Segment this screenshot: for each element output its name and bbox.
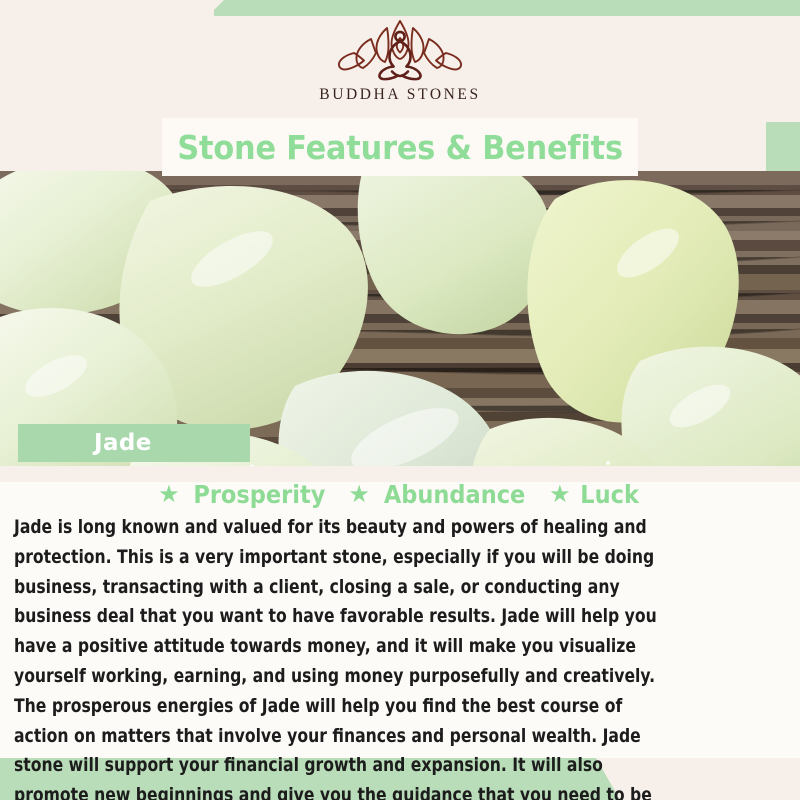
benefit-item-abundance: ★ Abundance: [348, 480, 533, 509]
star-icon: ★: [158, 483, 180, 507]
benefit-label: Abundance: [384, 480, 525, 509]
lotus-meditation-icon: [330, 16, 470, 82]
brand-name: BUDDHA STONES: [319, 86, 480, 104]
section-title-banner: Stone Features & Benefits: [162, 118, 638, 176]
stone-name-tag: Jade: [18, 424, 250, 462]
star-icon: ★: [348, 483, 370, 507]
stone-info-card: BUDDHA STONES: [0, 0, 800, 800]
benefit-label: Prosperity: [193, 480, 325, 509]
stone-description: Jade is long known and valued for its be…: [14, 513, 677, 800]
decorative-frame-top: [0, 0, 800, 16]
stone-photo-graphic: [0, 171, 800, 466]
benefit-item-luck: ★ Luck: [549, 480, 642, 509]
page-title: Stone Features & Benefits: [177, 128, 623, 167]
brand-logo: BUDDHA STONES: [0, 16, 800, 104]
stone-name: Jade: [94, 430, 152, 456]
star-icon: ★: [549, 483, 571, 507]
stone-photo: [0, 171, 800, 466]
benefit-label: Luck: [580, 480, 639, 509]
benefits-list: ★ Prosperity ★ Abundance ★ Luck: [0, 480, 800, 509]
benefit-item-prosperity: ★ Prosperity: [158, 480, 332, 509]
